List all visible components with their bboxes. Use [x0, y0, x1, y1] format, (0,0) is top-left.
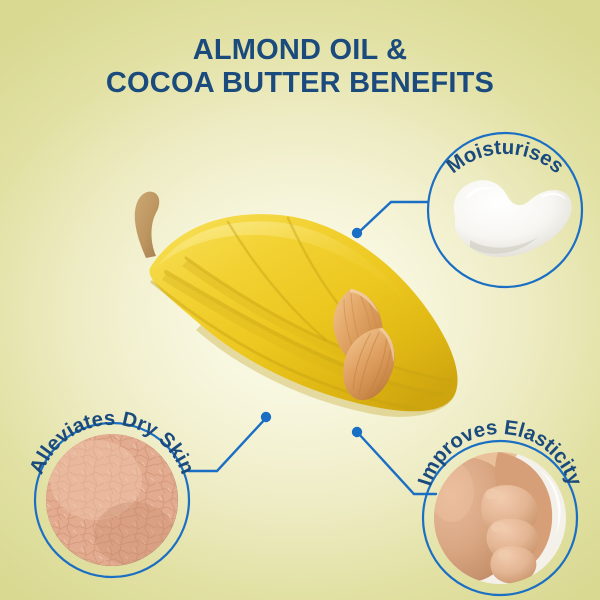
title-line-1: ALMOND OIL &: [0, 34, 600, 67]
dot-dry-skin: [261, 412, 271, 422]
title-line-2: COCOA BUTTER BENEFITS: [0, 67, 600, 100]
benefit-moisturises[interactable]: Moisturises: [428, 133, 582, 287]
page-title: ALMOND OIL & COCOA BUTTER BENEFITS: [0, 34, 600, 100]
benefit-alleviates-dry-skin[interactable]: Alleviates Dry Skin: [25, 407, 199, 578]
connector-dry-skin: [188, 418, 266, 471]
connector-moisturises: [358, 202, 428, 233]
moisturises-label: Moisturises: [442, 136, 568, 178]
dot-moisturises: [352, 228, 362, 238]
pod-stem: [135, 192, 160, 258]
cream-swatch-icon: [454, 180, 572, 257]
infographic-poster: Moisturises Alleviates Dry Skin: [0, 0, 600, 600]
dot-elasticity: [352, 427, 362, 437]
benefit-improves-elasticity[interactable]: Improves Elasticity: [413, 416, 586, 595]
skin-pinch-icon: [422, 448, 572, 590]
cocoa-pod: [135, 192, 458, 417]
